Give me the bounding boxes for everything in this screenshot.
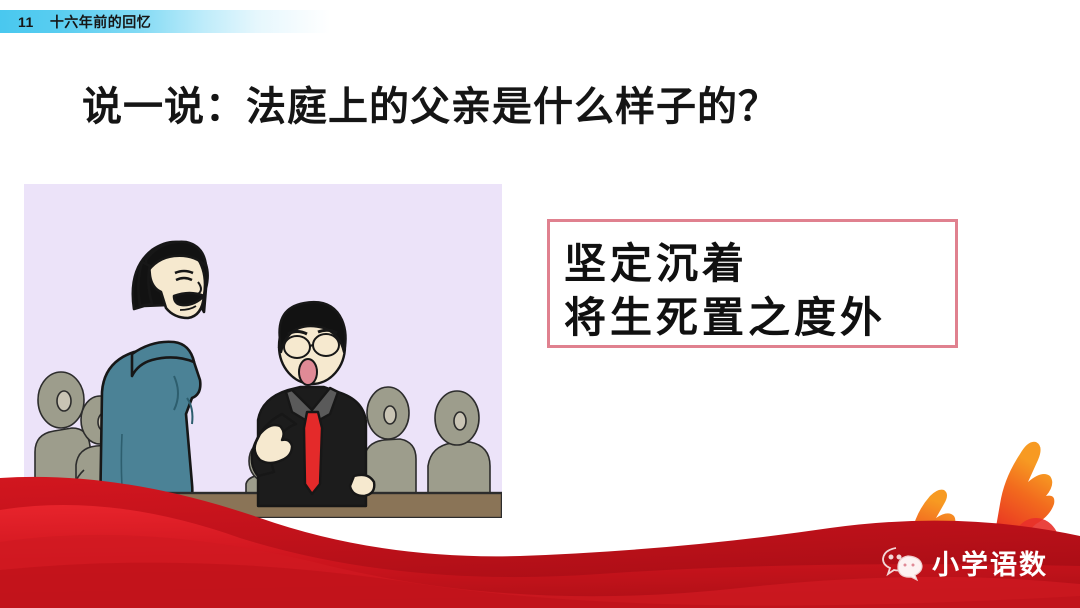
lesson-title: 十六年前的回忆 — [50, 14, 152, 30]
header-label: 11十六年前的回忆 — [18, 11, 151, 33]
answer-line-2: 将生死置之度外 — [564, 284, 886, 345]
page-title: 说一说：法庭上的父亲是什么样子的？ — [82, 74, 779, 132]
answer-box: 坚定沉着 将生死置之度外 — [547, 219, 958, 348]
lesson-number: 11 — [18, 11, 34, 33]
wechat-brand: 小学语数 — [880, 543, 1048, 582]
courtroom-illustration — [24, 184, 502, 518]
brand-name: 小学语数 — [932, 543, 1048, 582]
wechat-icon — [880, 544, 924, 582]
courtroom-scene-svg — [24, 184, 502, 518]
slide-root: 11十六年前的回忆 说一说：法庭上的父亲是什么样子的？ — [0, 0, 1080, 608]
answer-line-1: 坚定沉着 — [564, 230, 748, 291]
raised-fists-silhouette — [890, 442, 1078, 608]
